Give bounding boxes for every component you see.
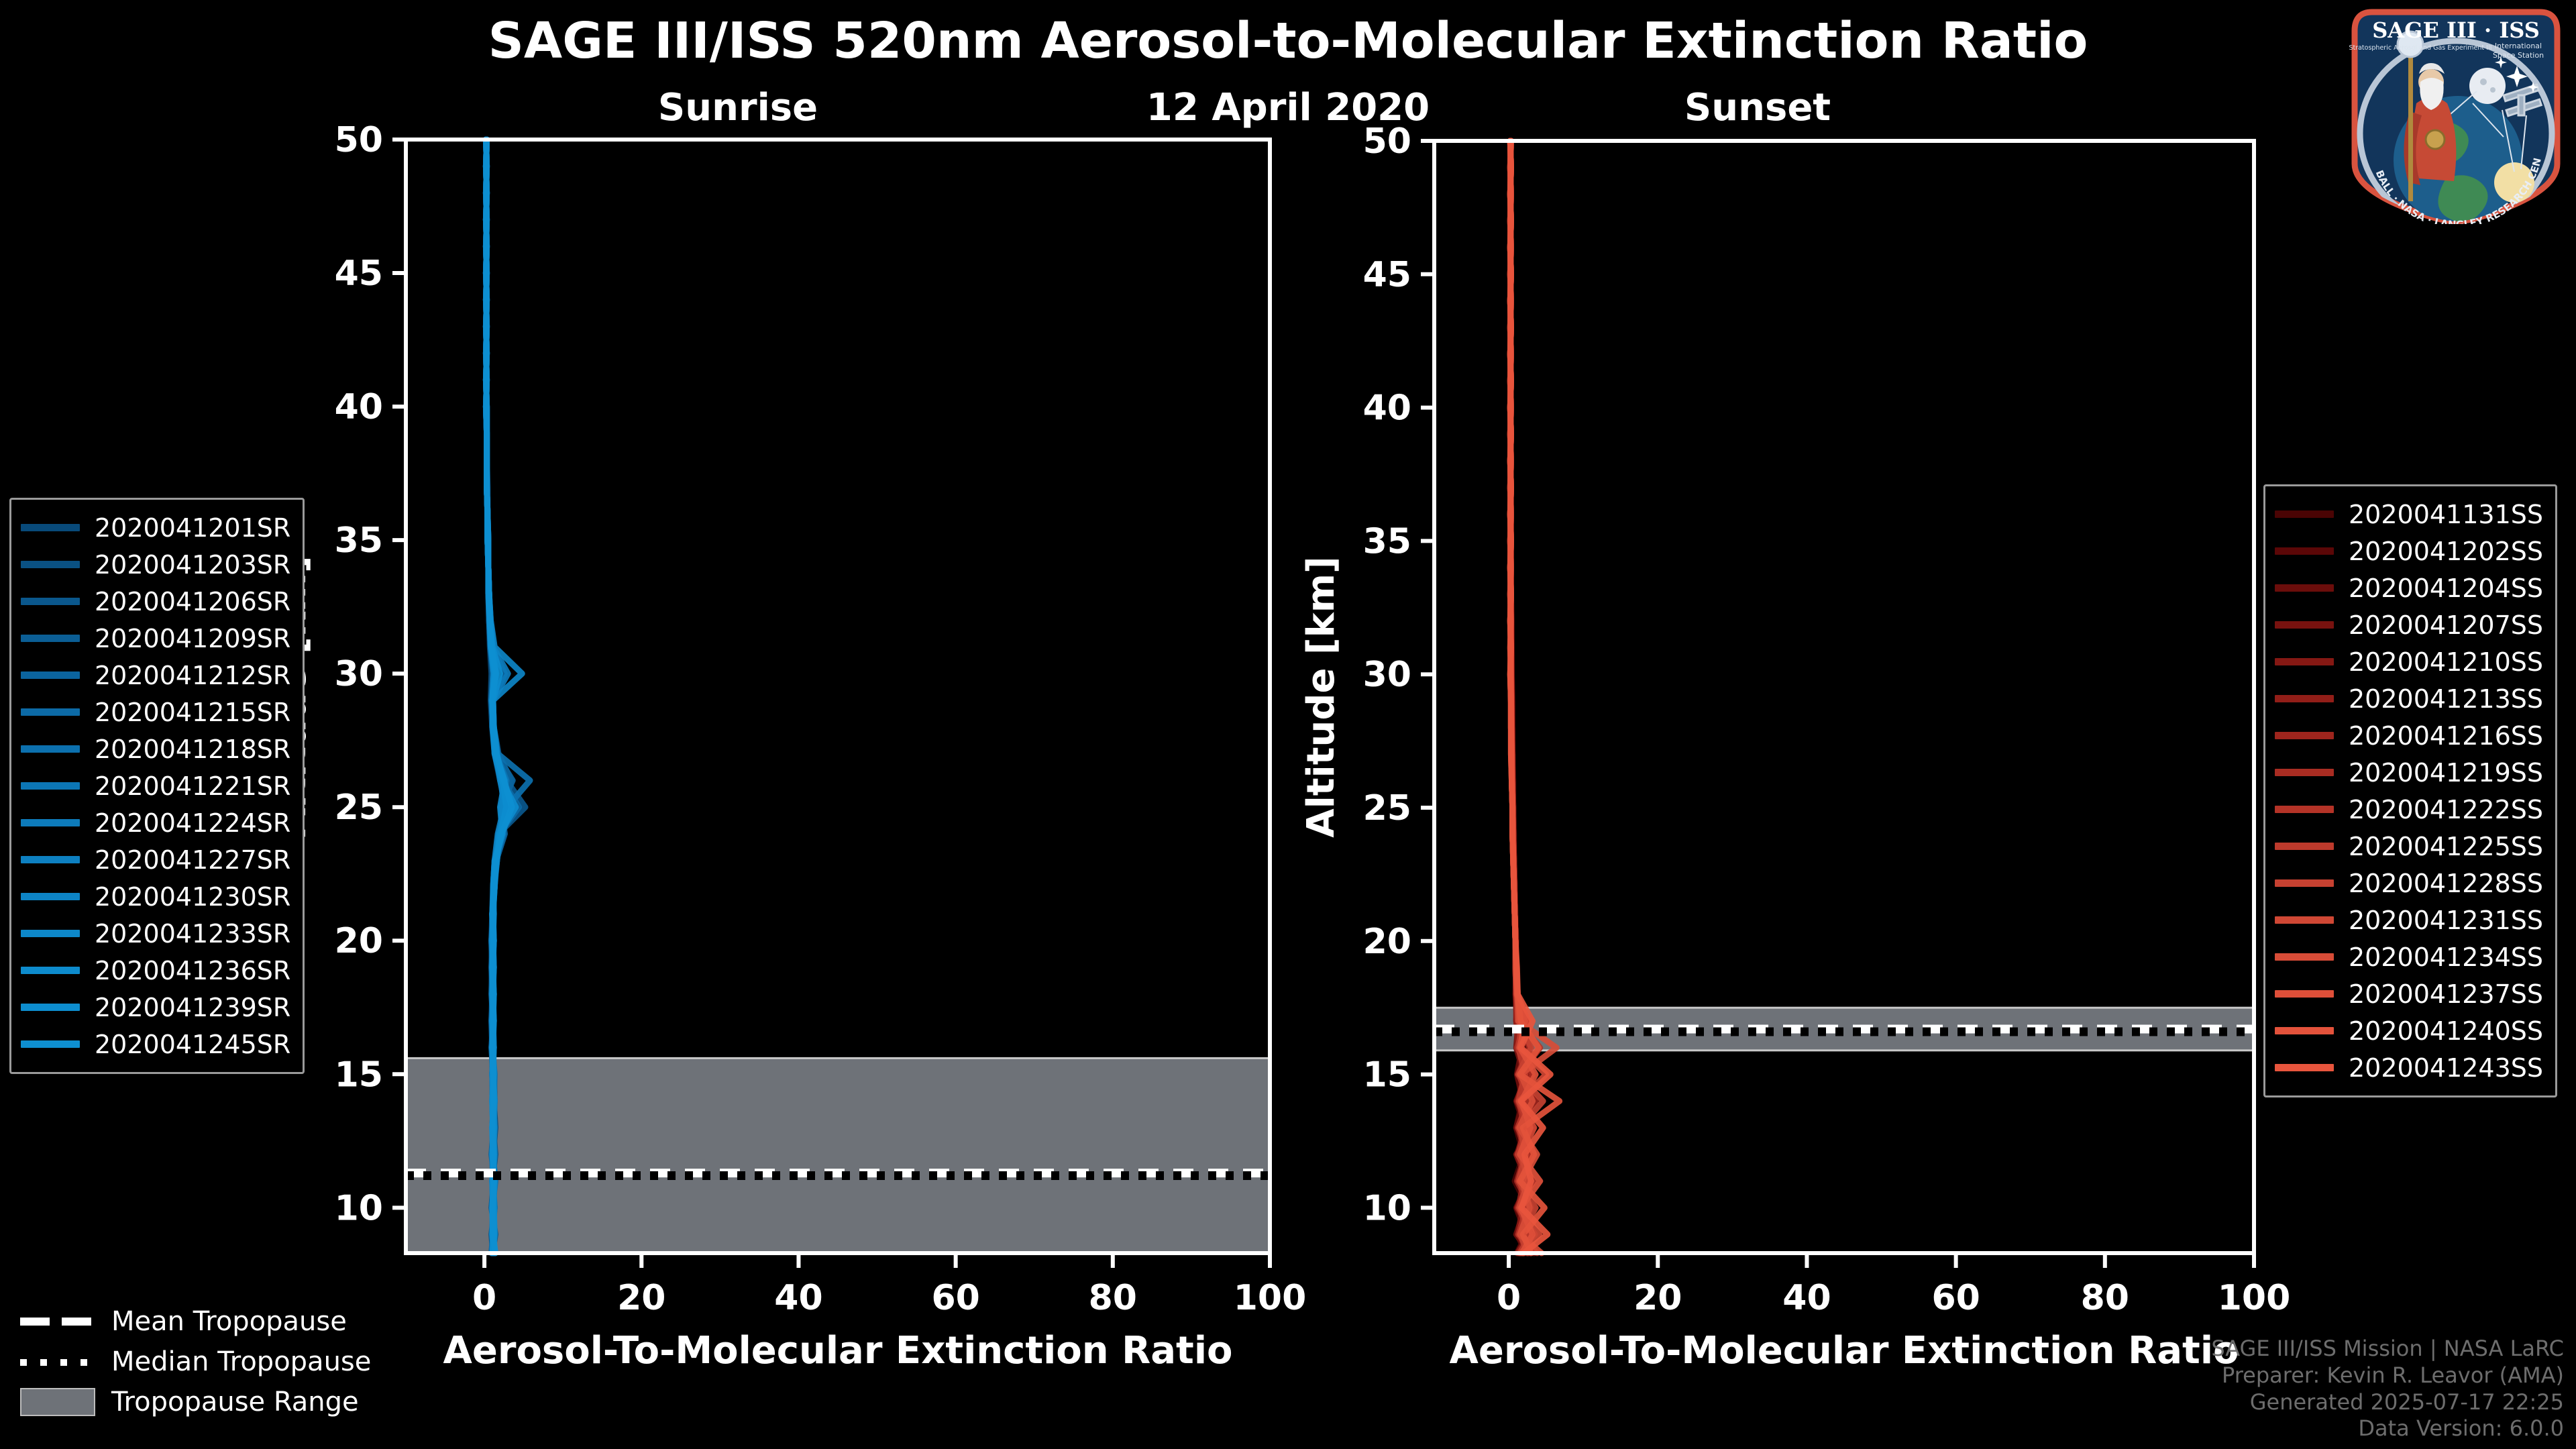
legend-item[interactable]: 2020041227SR	[21, 841, 290, 878]
legend-item[interactable]: 2020041212SR	[21, 657, 290, 694]
x-tick-label: 80	[2081, 1278, 2129, 1318]
legend-item-label: 2020041213SS	[2349, 684, 2543, 714]
y-tick-label: 35	[1363, 521, 1411, 561]
legend-item[interactable]: 2020041210SS	[2275, 643, 2543, 680]
legend-item-label: 2020041230SR	[95, 882, 290, 912]
legend-color-swatch	[2275, 511, 2334, 518]
key-median-label: Median Tropopause	[111, 1346, 371, 1377]
legend-item-label: 2020041233SR	[95, 919, 290, 949]
legend-color-swatch	[21, 893, 80, 900]
credit-line-1: SAGE III/ISS Mission | NASA LaRC	[2211, 1336, 2564, 1362]
legend-item-label: 2020041245SR	[95, 1030, 290, 1059]
x-axis-label: Aerosol-To-Molecular Extinction Ratio	[443, 1329, 1233, 1373]
legend-item[interactable]: 2020041231SS	[2275, 902, 2543, 938]
legend-color-swatch	[21, 672, 80, 679]
legend-color-swatch	[2275, 658, 2334, 665]
legend-item-label: 2020041234SS	[2349, 943, 2543, 972]
legend-color-swatch	[2275, 953, 2334, 961]
legend-color-swatch	[21, 967, 80, 974]
profile-plots: 101520253035404550020406080100Aerosol-To…	[0, 0, 2576, 1449]
legend-color-swatch	[21, 819, 80, 826]
legend-item[interactable]: 2020041216SS	[2275, 717, 2543, 754]
legend-color-swatch	[21, 930, 80, 937]
legend-item[interactable]: 2020041202SS	[2275, 533, 2543, 570]
legend-item[interactable]: 2020041222SS	[2275, 791, 2543, 828]
legend-color-swatch	[21, 708, 80, 716]
y-tick-label: 45	[335, 254, 383, 294]
y-tick-label: 45	[1363, 255, 1411, 295]
x-tick-label: 100	[2218, 1278, 2291, 1318]
legend-color-swatch	[21, 782, 80, 790]
x-tick-label: 40	[1782, 1278, 1831, 1318]
y-tick-label: 50	[1363, 121, 1411, 162]
legend-item-label: 2020041209SR	[95, 624, 290, 653]
x-tick-label: 80	[1089, 1278, 1137, 1318]
legend-color-swatch	[2275, 769, 2334, 776]
credit-line-3: Generated 2025-07-17 22:25	[2211, 1389, 2564, 1416]
y-tick-label: 10	[335, 1188, 383, 1228]
legend-item-label: 2020041224SR	[95, 808, 290, 838]
y-tick-label: 30	[335, 654, 383, 694]
legend-item[interactable]: 2020041237SS	[2275, 975, 2543, 1012]
legend-item-label: 2020041207SS	[2349, 610, 2543, 640]
legend-item[interactable]: 2020041204SS	[2275, 570, 2543, 606]
y-tick-label: 10	[1363, 1188, 1411, 1228]
legend-color-swatch	[2275, 1027, 2334, 1034]
x-tick-label: 100	[1234, 1278, 1307, 1318]
legend-color-swatch	[2275, 916, 2334, 924]
y-tick-label: 50	[335, 120, 383, 160]
legend-color-swatch	[2275, 732, 2334, 739]
legend-item[interactable]: 2020041213SS	[2275, 680, 2543, 717]
legend-color-swatch	[2275, 1064, 2334, 1071]
x-axis-label: Aerosol-To-Molecular Extinction Ratio	[1450, 1329, 2239, 1373]
legend-sunrise[interactable]: 2020041201SR2020041203SR2020041206SR2020…	[9, 498, 305, 1074]
legend-item[interactable]: 2020041201SR	[21, 509, 290, 546]
key-mean-label: Mean Tropopause	[111, 1306, 347, 1337]
legend-item-label: 2020041203SR	[95, 550, 290, 580]
legend-item[interactable]: 2020041225SS	[2275, 828, 2543, 865]
plot-background	[1434, 141, 2254, 1253]
legend-item-label: 2020041239SR	[95, 993, 290, 1022]
y-tick-label: 25	[335, 788, 383, 828]
x-tick-label: 40	[774, 1278, 822, 1318]
legend-color-swatch	[2275, 584, 2334, 592]
legend-item[interactable]: 2020041219SS	[2275, 754, 2543, 791]
x-tick-label: 20	[617, 1278, 665, 1318]
credits-block: SAGE III/ISS Mission | NASA LaRC Prepare…	[2211, 1336, 2564, 1442]
credit-line-4: Data Version: 6.0.0	[2211, 1415, 2564, 1442]
legend-item-label: 2020041225SS	[2349, 832, 2543, 861]
legend-item-label: 2020041131SS	[2349, 500, 2543, 529]
dashed-line-icon	[20, 1313, 94, 1330]
legend-item-label: 2020041228SS	[2349, 869, 2543, 898]
legend-item[interactable]: 2020041245SR	[21, 1026, 290, 1063]
legend-color-swatch	[2275, 547, 2334, 555]
legend-item-label: 2020041219SS	[2349, 758, 2543, 788]
y-tick-label: 40	[335, 387, 383, 427]
legend-color-swatch	[21, 1040, 80, 1048]
y-tick-label: 20	[335, 921, 383, 961]
y-tick-label: 35	[335, 521, 383, 561]
x-tick-label: 60	[1931, 1278, 1980, 1318]
y-tick-label: 25	[1363, 788, 1411, 828]
legend-item-label: 2020041243SS	[2349, 1053, 2543, 1083]
y-axis-label: Altitude [km]	[1299, 556, 1343, 837]
legend-color-swatch	[21, 635, 80, 642]
y-tick-label: 15	[1363, 1055, 1411, 1095]
legend-item-label: 2020041202SS	[2349, 537, 2543, 566]
legend-item-label: 2020041237SS	[2349, 979, 2543, 1009]
legend-color-swatch	[2275, 695, 2334, 702]
x-tick-label: 20	[1633, 1278, 1682, 1318]
legend-color-swatch	[2275, 806, 2334, 813]
legend-item[interactable]: 2020041221SR	[21, 767, 290, 804]
legend-item-label: 2020041236SR	[95, 956, 290, 985]
legend-item[interactable]: 2020041240SS	[2275, 1012, 2543, 1049]
sunset-panel: 101520253035404550020406080100Aerosol-To…	[1299, 121, 2290, 1373]
legend-item[interactable]: 2020041239SR	[21, 989, 290, 1026]
legend-sunset[interactable]: 2020041131SS2020041202SS2020041204SS2020…	[2263, 484, 2557, 1097]
tropopause-key: Mean Tropopause Median Tropopause Tropop…	[20, 1301, 371, 1422]
tropopause-range-band	[406, 1058, 1270, 1253]
legend-item-label: 2020041218SR	[95, 735, 290, 764]
legend-item[interactable]: 2020041224SR	[21, 804, 290, 841]
legend-item-label: 2020041201SR	[95, 513, 290, 543]
key-mean-tropopause: Mean Tropopause	[20, 1301, 371, 1342]
legend-color-swatch	[21, 745, 80, 753]
legend-color-swatch	[21, 1004, 80, 1011]
y-tick-label: 30	[1363, 655, 1411, 695]
key-tropopause-range: Tropopause Range	[20, 1382, 371, 1422]
sunrise-panel: 101520253035404550020406080100Aerosol-To…	[271, 120, 1306, 1373]
x-tick-label: 60	[931, 1278, 979, 1318]
legend-item-label: 2020041206SR	[95, 587, 290, 616]
y-tick-label: 40	[1363, 388, 1411, 429]
legend-item[interactable]: 2020041207SS	[2275, 606, 2543, 643]
legend-color-swatch	[21, 856, 80, 863]
legend-item-label: 2020041210SS	[2349, 647, 2543, 677]
legend-item-label: 2020041216SS	[2349, 721, 2543, 751]
x-tick-label: 0	[1497, 1278, 1521, 1318]
legend-item-label: 2020041212SR	[95, 661, 290, 690]
x-tick-label: 0	[472, 1278, 496, 1318]
dotted-line-icon	[20, 1353, 94, 1371]
legend-item[interactable]: 2020041131SS	[2275, 496, 2543, 533]
legend-color-swatch	[21, 561, 80, 568]
legend-item[interactable]: 2020041215SR	[21, 694, 290, 731]
legend-item-label: 2020041231SS	[2349, 906, 2543, 935]
legend-item-label: 2020041221SR	[95, 771, 290, 801]
legend-color-swatch	[2275, 990, 2334, 998]
legend-color-swatch	[2275, 879, 2334, 887]
legend-item[interactable]: 2020041209SR	[21, 620, 290, 657]
key-median-tropopause: Median Tropopause	[20, 1342, 371, 1382]
legend-color-swatch	[2275, 621, 2334, 629]
y-tick-label: 20	[1363, 922, 1411, 962]
legend-item-label: 2020041222SS	[2349, 795, 2543, 824]
legend-item-label: 2020041240SS	[2349, 1016, 2543, 1046]
legend-color-swatch	[21, 598, 80, 605]
y-tick-label: 15	[335, 1055, 383, 1095]
legend-item[interactable]: 2020041233SR	[21, 915, 290, 952]
legend-item-label: 2020041227SR	[95, 845, 290, 875]
legend-item[interactable]: 2020041203SR	[21, 546, 290, 583]
legend-item[interactable]: 2020041234SS	[2275, 938, 2543, 975]
range-swatch-icon	[20, 1388, 94, 1416]
legend-item[interactable]: 2020041243SS	[2275, 1049, 2543, 1086]
legend-item-label: 2020041204SS	[2349, 574, 2543, 603]
legend-color-swatch	[21, 524, 80, 531]
legend-color-swatch	[2275, 843, 2334, 850]
legend-item[interactable]: 2020041236SR	[21, 952, 290, 989]
legend-item[interactable]: 2020041218SR	[21, 731, 290, 767]
legend-item-label: 2020041215SR	[95, 698, 290, 727]
legend-item[interactable]: 2020041206SR	[21, 583, 290, 620]
credit-line-2: Preparer: Kevin R. Leavor (AMA)	[2211, 1362, 2564, 1389]
legend-item[interactable]: 2020041228SS	[2275, 865, 2543, 902]
legend-item[interactable]: 2020041230SR	[21, 878, 290, 915]
key-range-label: Tropopause Range	[111, 1387, 359, 1417]
